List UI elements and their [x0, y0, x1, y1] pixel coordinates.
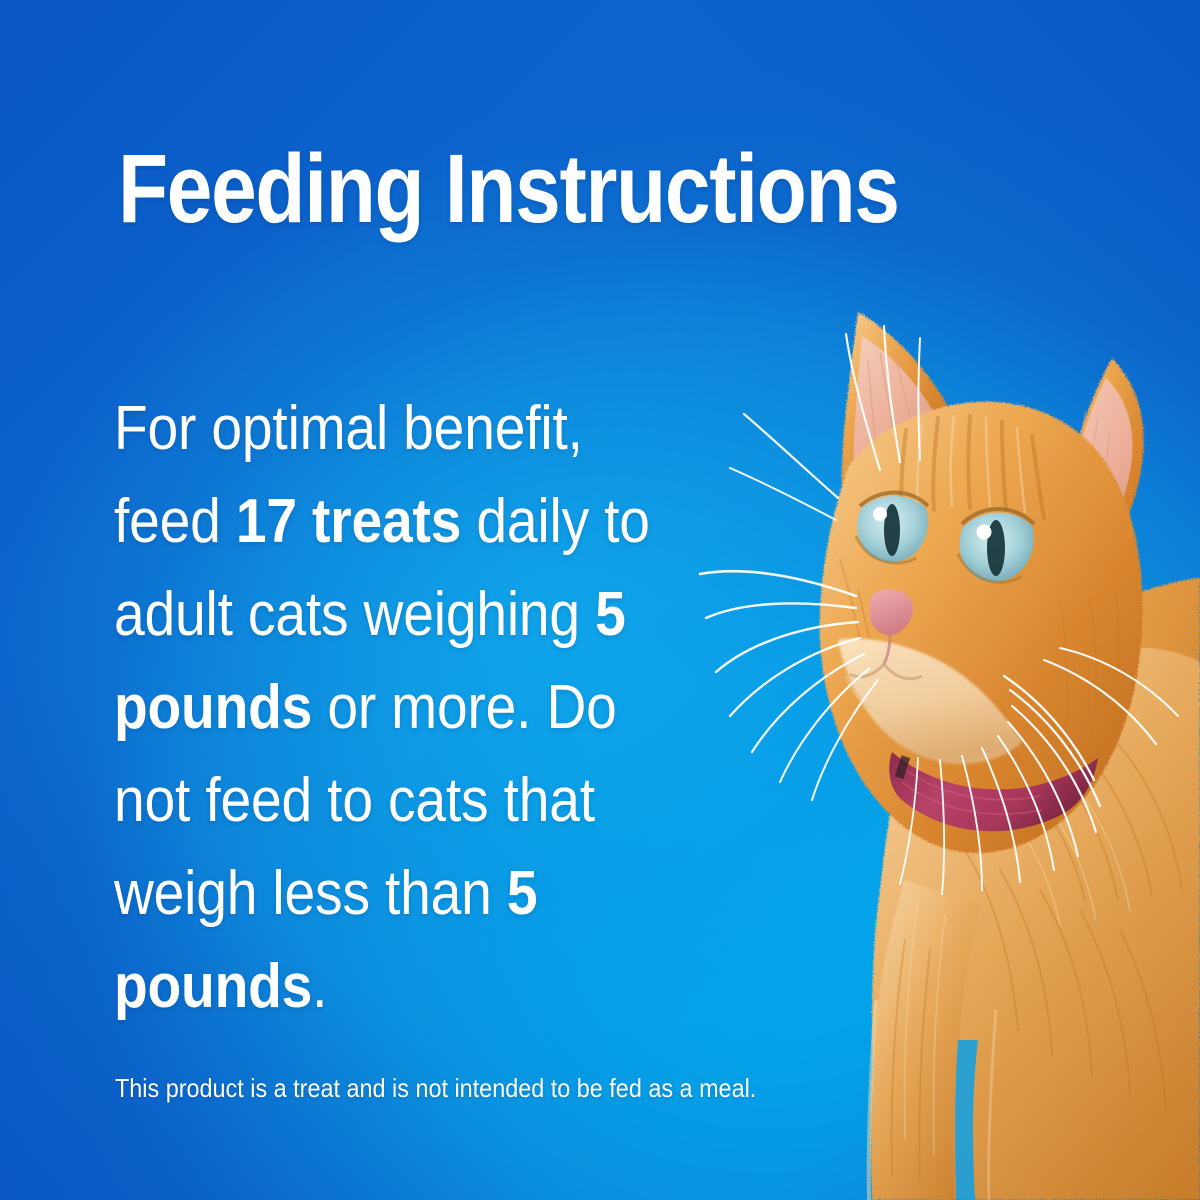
instructions-segment-1: 17 treats [236, 487, 461, 556]
feeding-instructions-panel: Feeding Instructions For optimal benefit… [0, 0, 1200, 1200]
disclaimer-text: This product is a treat and is not inten… [115, 1073, 756, 1104]
page-title: Feeding Instructions [118, 140, 899, 237]
feeding-instructions-text: For optimal benefit, feed 17 treats dail… [114, 382, 684, 1033]
instructions-segment-6: . [312, 952, 327, 1021]
